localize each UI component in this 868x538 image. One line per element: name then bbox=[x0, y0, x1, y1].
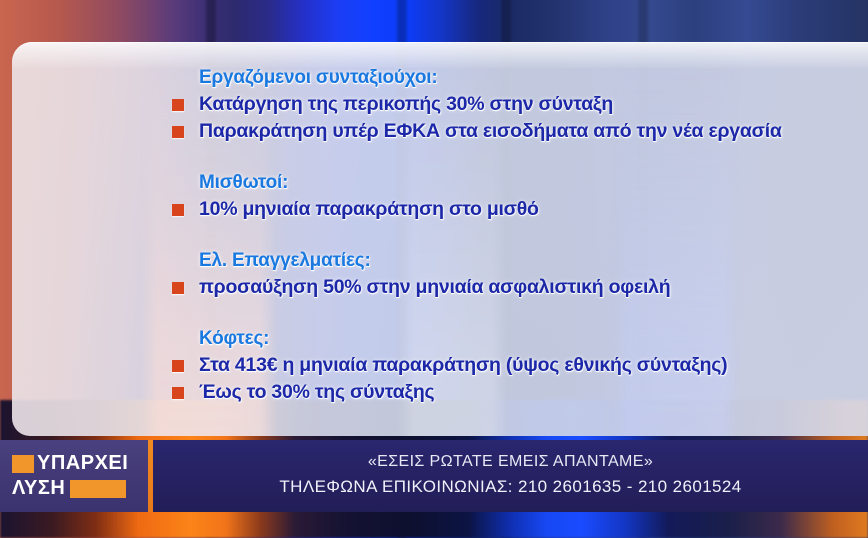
list-item: προσαύξηση 50% στην μηνιαία ασφαλιστική … bbox=[172, 274, 858, 301]
orange-square-icon bbox=[12, 455, 34, 473]
logo-line-2: ΛΥΣΗ bbox=[12, 476, 148, 501]
show-logo: ΥΠΑΡΧΕΙ ΛΥΣΗ bbox=[0, 440, 148, 512]
group-heading: Μισθωτοί: bbox=[199, 169, 858, 196]
list-item-label: Έως το 30% της σύνταξης bbox=[199, 379, 434, 406]
group-heading: Ελ. Επαγγελματίες: bbox=[199, 247, 858, 274]
list-item: Στα 413€ η μηνιαία παρακράτηση (ύψος εθν… bbox=[172, 352, 858, 379]
group-working-pensioners: Εργαζόμενοι συνταξιούχοι: Κατάργηση της … bbox=[157, 64, 858, 145]
lower-third-bar: ΥΠΑΡΧΕΙ ΛΥΣΗ «ΕΣΕΙΣ ΡΩΤΑΤΕ ΕΜΕΙΣ ΑΠΑΝΤΑΜ… bbox=[0, 440, 868, 512]
list-item-label: Στα 413€ η μηνιαία παρακράτηση (ύψος εθν… bbox=[199, 352, 727, 379]
group-heading: Εργαζόμενοι συνταξιούχοι: bbox=[199, 64, 858, 91]
list-item: Κατάργηση της περικοπής 30% στην σύνταξη bbox=[172, 91, 858, 118]
bullet-square-icon bbox=[172, 282, 184, 294]
spacer bbox=[157, 145, 858, 169]
list-item: 10% μηνιαία παρακράτηση στο μισθό bbox=[172, 196, 858, 223]
list-item-label: προσαύξηση 50% στην μηνιαία ασφαλιστική … bbox=[199, 274, 670, 301]
group-freelancers: Ελ. Επαγγελματίες: προσαύξηση 50% στην μ… bbox=[157, 247, 858, 301]
group-salaried: Μισθωτοί: 10% μηνιαία παρακράτηση στο μι… bbox=[157, 169, 858, 223]
content-panel: Εργαζόμενοι συνταξιούχοι: Κατάργηση της … bbox=[12, 42, 868, 436]
contact-info-block: «ΕΣΕΙΣ ΡΩΤΑΤΕ ΕΜΕΙΣ ΑΠΑΝΤΑΜΕ» ΤΗΛΕΦΩΝΑ Ε… bbox=[153, 440, 868, 512]
bullet-square-icon bbox=[172, 204, 184, 216]
list-item: Παρακράτηση υπέρ ΕΦΚΑ στα εισοδήματα από… bbox=[172, 118, 858, 145]
list-item: Έως το 30% της σύνταξης bbox=[172, 379, 858, 406]
logo-word-yparxei: ΥΠΑΡΧΕΙ bbox=[37, 453, 128, 474]
show-tagline: «ΕΣΕΙΣ ΡΩΤΑΤΕ ΕΜΕΙΣ ΑΠΑΝΤΑΜΕ» bbox=[368, 450, 653, 474]
broadcast-screen: Εργαζόμενοι συνταξιούχοι: Κατάργηση της … bbox=[0, 0, 868, 538]
bullet-list-container: Εργαζόμενοι συνταξιούχοι: Κατάργηση της … bbox=[12, 42, 868, 436]
group-caps: Κόφτες: Στα 413€ η μηνιαία παρακράτηση (… bbox=[157, 325, 858, 406]
logo-word-lysi: ΛΥΣΗ bbox=[12, 478, 65, 499]
list-item-label: 10% μηνιαία παρακράτηση στο μισθό bbox=[199, 196, 539, 223]
list-item-label: Κατάργηση της περικοπής 30% στην σύνταξη bbox=[199, 91, 613, 118]
bullet-square-icon bbox=[172, 126, 184, 138]
bullet-square-icon bbox=[172, 360, 184, 372]
spacer bbox=[157, 223, 858, 247]
orange-bar-icon bbox=[70, 480, 126, 498]
bullet-square-icon bbox=[172, 387, 184, 399]
contact-phones: ΤΗΛΕΦΩΝΑ ΕΠΙΚΟΙΝΩΝΙΑΣ: 210 2601635 - 210… bbox=[279, 474, 741, 500]
logo-line-1: ΥΠΑΡΧΕΙ bbox=[12, 451, 148, 476]
bullet-square-icon bbox=[172, 99, 184, 111]
group-heading: Κόφτες: bbox=[199, 325, 858, 352]
list-item-label: Παρακράτηση υπέρ ΕΦΚΑ στα εισοδήματα από… bbox=[199, 118, 782, 145]
spacer bbox=[157, 301, 858, 325]
